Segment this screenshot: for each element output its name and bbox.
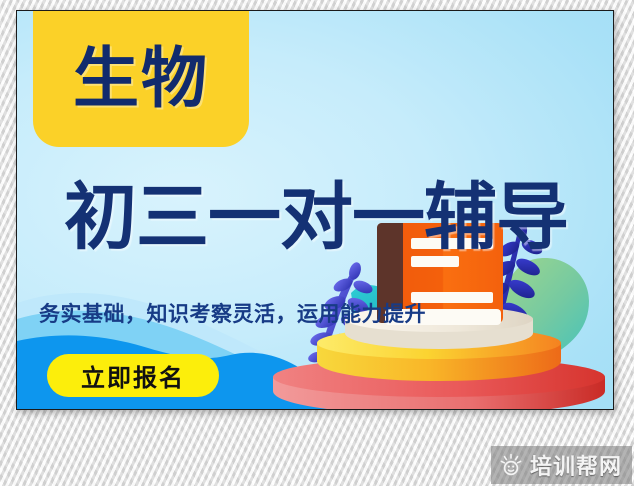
subject-tag: 生物 bbox=[33, 11, 249, 147]
page-subtitle: 务实基础，知识考察灵活，运用能力提升 bbox=[39, 298, 426, 328]
watermark: 培训帮网 bbox=[491, 446, 632, 484]
page-title: 初三一对一辅导 bbox=[25, 181, 607, 254]
enroll-now-label: 立即报名 bbox=[81, 358, 185, 393]
page-canvas: 生物 bbox=[0, 0, 634, 486]
enroll-now-button[interactable]: 立即报名 bbox=[47, 354, 219, 397]
sun-face-icon bbox=[499, 453, 523, 477]
subject-tag-label: 生物 bbox=[73, 46, 209, 112]
watermark-label: 培训帮网 bbox=[530, 449, 622, 481]
promo-banner: 生物 bbox=[16, 10, 614, 410]
